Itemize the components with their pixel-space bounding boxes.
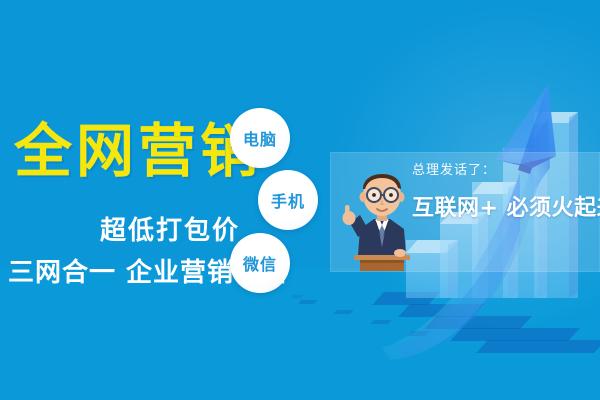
speaker-at-podium-icon [330, 155, 422, 273]
bar-shadow [476, 340, 600, 353]
badge-wechat-label: 微信 [243, 251, 277, 275]
ground-dash [298, 300, 317, 304]
ground-dash [370, 320, 391, 324]
page-title: 全网营销 [14, 122, 262, 180]
marketing-banner: 总理发话了： 互联网+ 必须火起来 全网营销 超低打包价 三网合一 企业营销利器… [0, 0, 600, 400]
badge-desktop-label: 电脑 [243, 126, 277, 150]
badge-mobile-label: 手机 [271, 188, 305, 212]
quote-headline: 互联网+ 必须火起来 [412, 190, 600, 222]
badge-desktop[interactable]: 电脑 [230, 108, 290, 168]
subheading-price: 超低打包价 [100, 210, 240, 247]
quote-kicker: 总理发话了： [412, 163, 600, 179]
quote-text-block: 总理发话了： 互联网+ 必须火起来 [412, 163, 600, 222]
badge-mobile[interactable]: 手机 [258, 170, 318, 230]
speaker-illustration [330, 155, 422, 273]
ground-dash [333, 310, 353, 314]
badge-wechat[interactable]: 微信 [230, 233, 290, 293]
